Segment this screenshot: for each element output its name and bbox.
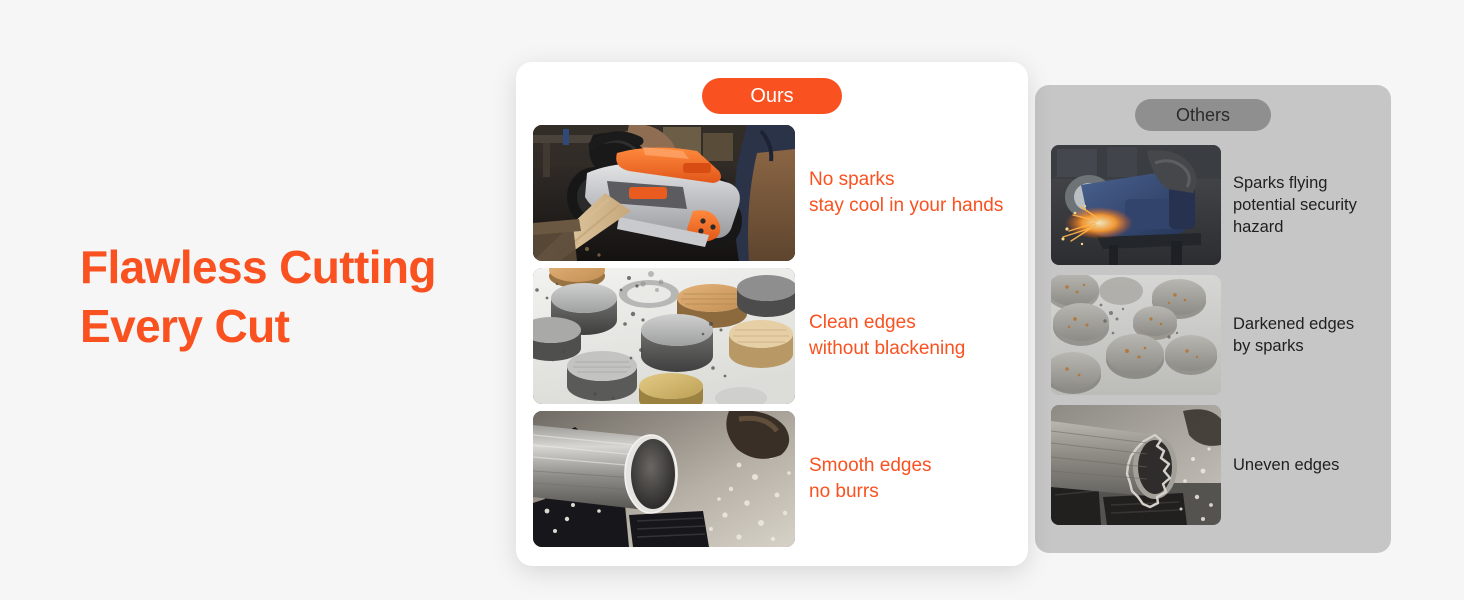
bandsaw-cutting-wood-image: [533, 125, 795, 261]
page-title: Flawless Cutting Every Cut: [80, 238, 500, 356]
ours-caption-line-2: no burrs: [809, 479, 932, 505]
others-caption: Sparks flying potential security hazard: [1233, 172, 1357, 238]
others-row: Uneven edges: [1051, 405, 1377, 525]
clean-cut-discs-image: [533, 268, 795, 404]
ours-caption: No sparks stay cool in your hands: [809, 167, 1003, 219]
sparking-saw-photo: [1051, 145, 1221, 265]
others-caption-line-3: hazard: [1233, 216, 1357, 238]
uneven-cut-pipe-image: [1051, 405, 1221, 525]
headline-line-2: Every Cut: [80, 297, 500, 356]
others-panel: Others: [1035, 85, 1391, 553]
others-caption-line-1: Darkened edges: [1233, 313, 1354, 335]
others-caption: Darkened edges by sparks: [1233, 313, 1354, 357]
others-caption-line-1: Uneven edges: [1233, 454, 1339, 476]
darkened-discs-image: [1051, 275, 1221, 395]
others-caption: Uneven edges: [1233, 454, 1339, 476]
ours-caption: Smooth edges no burrs: [809, 453, 932, 505]
ours-row: Clean edges without blackening: [533, 268, 1014, 404]
uneven-cut-pipe-photo: [1051, 405, 1221, 525]
ours-row-list: No sparks stay cool in your hands: [533, 125, 1014, 547]
ours-badge-label: Ours: [750, 85, 793, 108]
others-caption-line-2: by sparks: [1233, 335, 1354, 357]
ours-caption: Clean edges without blackening: [809, 310, 965, 362]
others-row: Darkened edges by sparks: [1051, 275, 1377, 395]
sparking-saw-image: [1051, 145, 1221, 265]
others-row: Sparks flying potential security hazard: [1051, 145, 1377, 265]
darkened-discs-photo: [1051, 275, 1221, 395]
others-row-list: Sparks flying potential security hazard: [1051, 145, 1377, 525]
ours-badge: Ours: [702, 78, 842, 114]
ours-caption-line-1: No sparks: [809, 167, 1003, 193]
ours-caption-line-2: stay cool in your hands: [809, 193, 1003, 219]
ours-caption-line-2: without blackening: [809, 336, 965, 362]
ours-row: No sparks stay cool in your hands: [533, 125, 1014, 261]
others-badge-label: Others: [1176, 105, 1230, 126]
others-caption-line-2: potential security: [1233, 194, 1357, 216]
ours-row: Smooth edges no burrs: [533, 411, 1014, 547]
smooth-cut-pipe-photo: [533, 411, 795, 547]
ours-card: Ours: [516, 62, 1028, 566]
others-badge: Others: [1135, 99, 1271, 131]
smooth-cut-pipe-image: [533, 411, 795, 547]
comparison-banner: Flawless Cutting Every Cut Others: [0, 0, 1464, 600]
others-caption-line-1: Sparks flying: [1233, 172, 1357, 194]
ours-caption-line-1: Clean edges: [809, 310, 965, 336]
headline-line-1: Flawless Cutting: [80, 238, 500, 297]
bandsaw-cutting-wood-photo: [533, 125, 795, 261]
ours-caption-line-1: Smooth edges: [809, 453, 932, 479]
clean-cut-discs-photo: [533, 268, 795, 404]
